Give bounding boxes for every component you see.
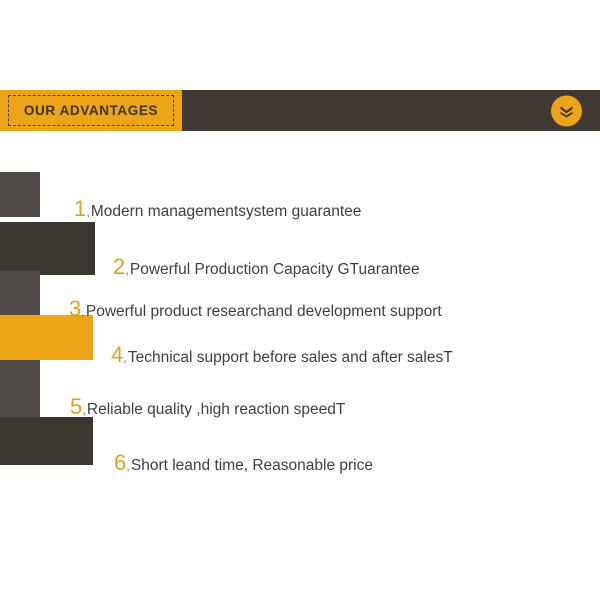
page-title: OUR ADVANTAGES <box>24 103 158 118</box>
accent-bar-2 <box>0 222 95 275</box>
list-item-separator: , <box>86 205 90 218</box>
list-item-separator: , <box>126 459 130 472</box>
accent-bar-4-highlight <box>0 315 93 360</box>
header-bar: OUR ADVANTAGES <box>0 90 600 131</box>
list-item-label: Short leand time, Reasonable price <box>131 458 373 474</box>
section-title-badge: OUR ADVANTAGES <box>0 90 182 131</box>
list-item-number: 1 <box>74 198 86 220</box>
section-title-badge-border: OUR ADVANTAGES <box>8 95 174 126</box>
advantages-infographic: OUR ADVANTAGES 1 , Modern managementsyst… <box>0 0 600 600</box>
accent-bar-3 <box>0 271 40 315</box>
list-item-label: Reliable quality ,high reaction speedT <box>87 402 346 418</box>
list-item: 1 , Modern managementsystem guarantee <box>74 198 361 220</box>
double-chevron-down-icon[interactable] <box>551 95 582 126</box>
list-item-label: Modern managementsystem guarantee <box>91 204 362 220</box>
accent-bar-6 <box>0 417 93 465</box>
list-item: 4 , Technical support before sales and a… <box>111 344 453 366</box>
list-item: 3 , Powerful product researchand develop… <box>69 298 442 320</box>
list-item-separator: , <box>125 263 129 276</box>
list-item: 5 , Reliable quality ,high reaction spee… <box>70 396 345 418</box>
list-item-label: Powerful Production Capacity GTuarantee <box>130 262 420 278</box>
accent-bar-1 <box>0 172 40 217</box>
list-item-number: 2 <box>113 256 125 278</box>
list-item-separator: , <box>123 351 127 364</box>
list-item-number: 4 <box>111 344 123 366</box>
list-item: 6 , Short leand time, Reasonable price <box>114 452 373 474</box>
list-item-number: 3 <box>69 298 81 320</box>
accent-bar-5 <box>0 360 40 417</box>
list-item-number: 5 <box>70 396 82 418</box>
list-item-separator: , <box>81 305 85 318</box>
list-item: 2 , Powerful Production Capacity GTuaran… <box>113 256 420 278</box>
list-item-label: Technical support before sales and after… <box>128 350 453 366</box>
list-item-number: 6 <box>114 452 126 474</box>
list-item-label: Powerful product researchand development… <box>86 304 442 320</box>
list-item-separator: , <box>82 403 86 416</box>
